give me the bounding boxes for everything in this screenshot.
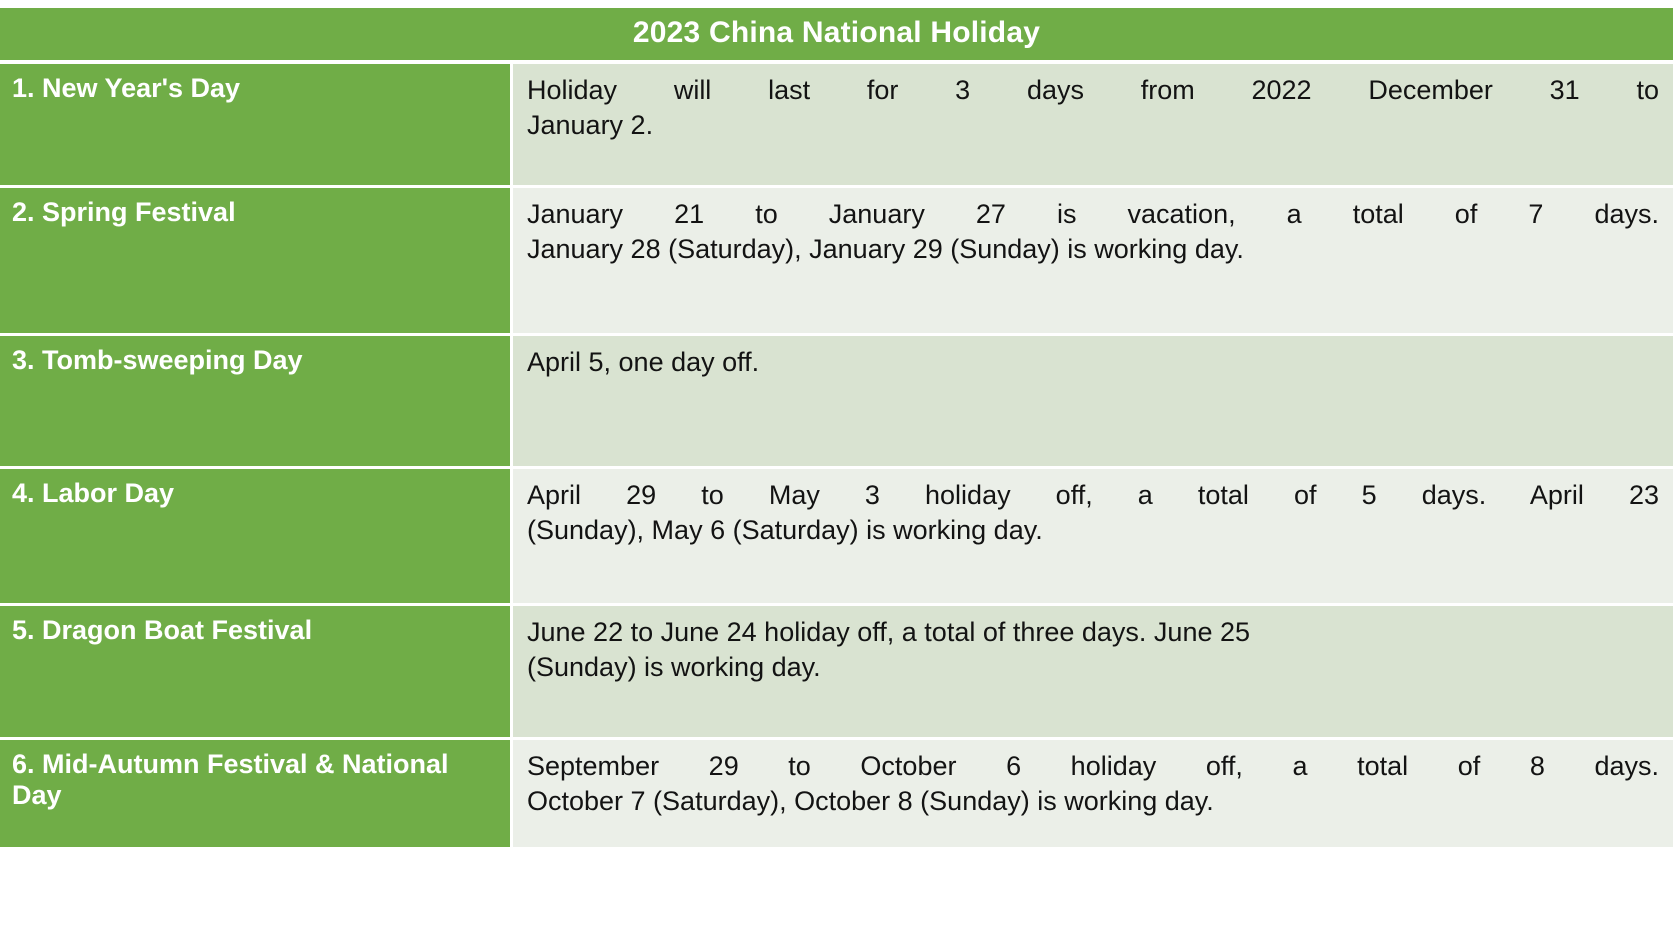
holiday-desc-2: January 21 to January 27 is vacation, a … (513, 188, 1673, 336)
holiday-desc-6: September 29 to October 6 holiday off, a… (513, 740, 1673, 850)
table-row: 5. Dragon Boat Festival June 22 to June … (0, 606, 1673, 740)
table-row: 1. New Year's Day Holiday will last for … (0, 64, 1673, 188)
table-title-row: 2023 China National Holiday (0, 8, 1673, 64)
holiday-desc-5-line1: June 22 to June 24 holiday off, a total … (527, 615, 1659, 651)
holiday-desc-1: Holiday will last for 3 days from 2022 D… (513, 64, 1673, 188)
holiday-name-3: 3. Tomb-sweeping Day (0, 336, 513, 469)
holiday-name-6: 6. Mid-Autumn Festival & National Day (0, 740, 513, 850)
holiday-desc-3: April 5, one day off. (513, 336, 1673, 469)
table-row: 6. Mid-Autumn Festival & National Day Se… (0, 740, 1673, 850)
holiday-name-4: 4. Labor Day (0, 469, 513, 606)
holiday-name-1: 1. New Year's Day (0, 64, 513, 188)
holiday-desc-4: April 29 to May 3 holiday off, a total o… (513, 469, 1673, 606)
holiday-name-5: 5. Dragon Boat Festival (0, 606, 513, 740)
holiday-desc-5: June 22 to June 24 holiday off, a total … (513, 606, 1673, 740)
holiday-desc-4-line2: (Sunday), May 6 (Saturday) is working da… (527, 513, 1659, 549)
page-root: 2023 China National Holiday 1. New Year'… (0, 0, 1673, 932)
holiday-desc-1-line2: January 2. (527, 108, 1659, 144)
holiday-desc-2-line1: January 21 to January 27 is vacation, a … (527, 197, 1659, 233)
holiday-desc-6-line2: October 7 (Saturday), October 8 (Sunday)… (527, 784, 1659, 820)
holiday-desc-4-line1: April 29 to May 3 holiday off, a total o… (527, 478, 1659, 514)
table-row: 3. Tomb-sweeping Day April 5, one day of… (0, 336, 1673, 469)
holiday-table: 2023 China National Holiday 1. New Year'… (0, 8, 1673, 850)
holiday-desc-5-line2: (Sunday) is working day. (527, 650, 1659, 686)
holiday-name-2: 2. Spring Festival (0, 188, 513, 336)
holiday-desc-6-line1: September 29 to October 6 holiday off, a… (527, 749, 1659, 785)
table-row: 2. Spring Festival January 21 to January… (0, 188, 1673, 336)
table-row: 4. Labor Day April 29 to May 3 holiday o… (0, 469, 1673, 606)
holiday-desc-3-line1: April 5, one day off. (527, 345, 1659, 381)
holiday-desc-1-line1: Holiday will last for 3 days from 2022 D… (527, 73, 1659, 109)
table-title: 2023 China National Holiday (0, 8, 1673, 64)
holiday-desc-2-line2: January 28 (Saturday), January 29 (Sunda… (527, 232, 1659, 268)
